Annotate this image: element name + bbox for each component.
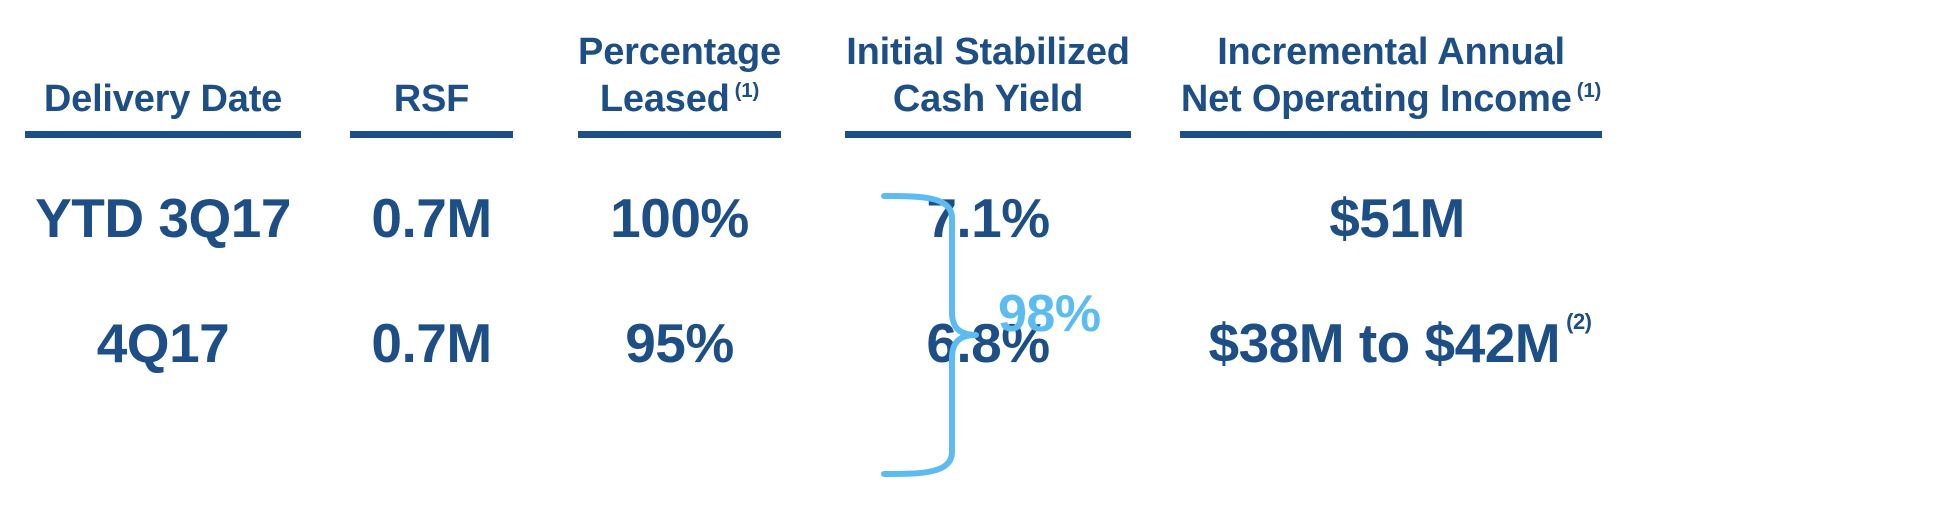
column-rule-delivery-date xyxy=(25,131,301,138)
cell-percentage-leased: 95% xyxy=(578,300,781,386)
footnote-marker: (1) xyxy=(1577,79,1601,102)
column-rule-percentage-leased xyxy=(578,131,781,138)
cell-value: $51M xyxy=(1329,187,1465,249)
column-header-line: Initial Stabilized xyxy=(845,29,1131,75)
cell-rsf: 0.7M xyxy=(350,175,513,261)
column-header-line: Percentage xyxy=(578,29,781,75)
column-rule-initial-stabilized-cash-yield xyxy=(845,131,1131,138)
column-rule-rsf xyxy=(350,131,513,138)
cell-percentage-leased: 100% xyxy=(578,175,781,261)
cell-delivery-date: YTD 3Q17 xyxy=(25,175,301,261)
column-rule-incremental-annual-noi xyxy=(1180,131,1602,138)
column-header-rsf: RSF xyxy=(350,76,513,122)
percentage-leased-brace-annotation: 98% xyxy=(880,190,1200,480)
column-header-line: Cash Yield xyxy=(845,76,1131,122)
cell-incremental-annual-noi: $51M xyxy=(1150,175,1650,261)
column-header-line: Net Operating Income(1) xyxy=(1180,76,1602,122)
delivery-metrics-table: Delivery Date RSF Percentage Leased(1) I… xyxy=(0,0,1953,523)
cell-value: $38M to $42M xyxy=(1208,312,1560,374)
cell-delivery-date: 4Q17 xyxy=(25,300,301,386)
brace-aggregate-label: 98% xyxy=(998,288,1101,340)
column-header-line: Leased(1) xyxy=(578,76,781,122)
column-header-initial-stabilized-cash-yield: Initial Stabilized Cash Yield xyxy=(845,29,1131,122)
column-header-text: Leased xyxy=(600,78,730,120)
cell-rsf: 0.7M xyxy=(350,300,513,386)
footnote-marker: (1) xyxy=(735,79,759,102)
footnote-marker: (2) xyxy=(1566,309,1591,334)
column-header-line: RSF xyxy=(350,76,513,122)
column-header-delivery-date: Delivery Date xyxy=(25,76,301,122)
table-header-row: Delivery Date RSF Percentage Leased(1) I… xyxy=(0,0,1953,148)
column-header-percentage-leased: Percentage Leased(1) xyxy=(578,29,781,122)
cell-incremental-annual-noi: $38M to $42M(2) xyxy=(1150,300,1650,386)
column-header-line: Delivery Date xyxy=(25,76,301,122)
column-header-incremental-annual-noi: Incremental Annual Net Operating Income(… xyxy=(1180,29,1602,122)
column-header-line: Incremental Annual xyxy=(1180,29,1602,75)
column-header-text: Net Operating Income xyxy=(1181,78,1572,120)
